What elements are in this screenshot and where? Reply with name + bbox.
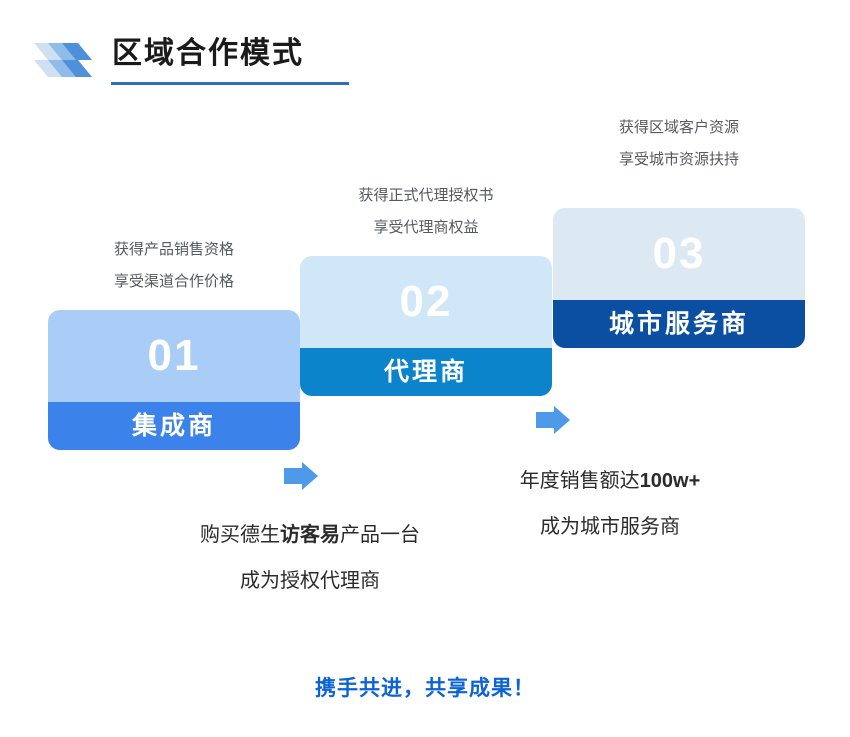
note-1-line-2: 成为授权代理商 (140, 558, 480, 604)
arrow-right-icon (536, 404, 576, 436)
step-caption-01-line-2: 享受渠道合作价格 (48, 266, 300, 298)
flow-arrow-1 (284, 460, 324, 497)
step-caption-03-line-2: 享受城市资源扶持 (553, 144, 805, 176)
flow-arrow-2 (536, 404, 576, 441)
chevron-group-icon (34, 43, 100, 77)
step-label-01: 集成商 (48, 402, 300, 450)
note-2: 年度销售额达100w+ 成为城市服务商 (450, 458, 770, 550)
double-chevron-icon (34, 43, 100, 77)
step-label-02: 代理商 (300, 348, 552, 396)
note-2-line-1: 年度销售额达100w+ (450, 458, 770, 504)
note-2-line-2: 成为城市服务商 (450, 504, 770, 550)
step-number-02: 02 (300, 256, 552, 348)
page-header: 区域合作模式 (0, 32, 850, 92)
page-title: 区域合作模式 (112, 32, 304, 76)
step-card-03-body: 03 城市服务商 (553, 208, 805, 348)
step-card-02[interactable]: 02 代理商 (300, 256, 552, 396)
step-label-03: 城市服务商 (553, 300, 805, 348)
step-number-03: 03 (553, 208, 805, 300)
title-underline (111, 82, 349, 85)
note-2-line-1-bold: 100w+ (640, 470, 701, 492)
footer-slogan: 携手共进，共享成果！ (0, 672, 850, 702)
note-1-line-1-post: 产品一台 (340, 524, 420, 546)
step-caption-01-line-1: 获得产品销售资格 (48, 234, 300, 266)
note-1-line-1: 购买德生访客易产品一台 (140, 512, 480, 558)
step-card-01-body: 01 集成商 (48, 310, 300, 450)
note-2-line-1-pre: 年度销售额达 (520, 470, 640, 492)
step-card-01[interactable]: 01 集成商 (48, 310, 300, 450)
step-caption-02-line-1: 获得正式代理授权书 (300, 180, 552, 212)
step-caption-03: 获得区域客户资源 享受城市资源扶持 (553, 112, 805, 176)
note-1-line-1-bold: 访客易 (280, 524, 340, 546)
step-caption-01: 获得产品销售资格 享受渠道合作价格 (48, 234, 300, 298)
arrow-right-icon (284, 460, 324, 492)
note-1-line-1-pre: 购买德生 (200, 524, 280, 546)
step-card-02-body: 02 代理商 (300, 256, 552, 396)
step-number-01: 01 (48, 310, 300, 402)
step-caption-02: 获得正式代理授权书 享受代理商权益 (300, 180, 552, 244)
step-card-03[interactable]: 03 城市服务商 (553, 208, 805, 348)
note-1: 购买德生访客易产品一台 成为授权代理商 (140, 512, 480, 604)
step-caption-02-line-2: 享受代理商权益 (300, 212, 552, 244)
step-caption-03-line-1: 获得区域客户资源 (553, 112, 805, 144)
